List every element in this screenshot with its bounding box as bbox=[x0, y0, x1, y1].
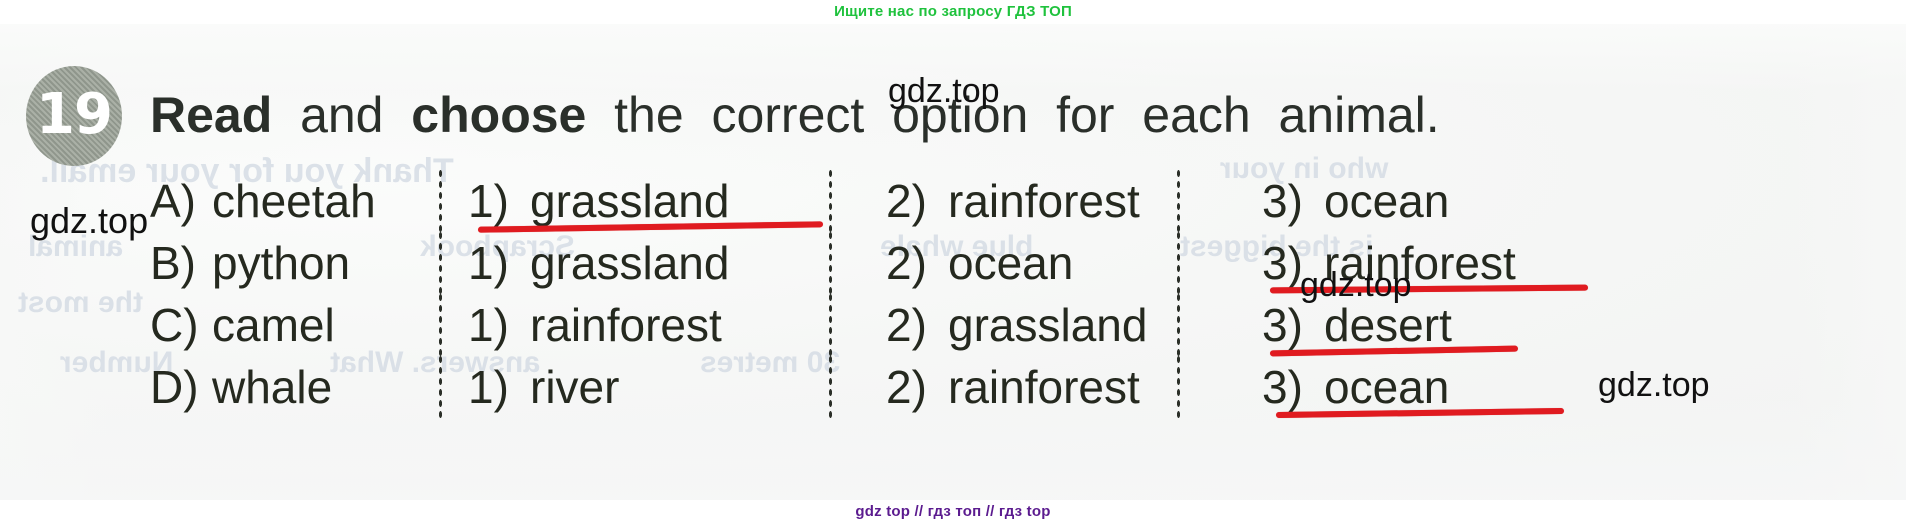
column-divider bbox=[1176, 230, 1181, 296]
option-row: A)cheetah1)grassland2)rainforest3)ocean bbox=[150, 170, 1896, 232]
option-label: ocean bbox=[1324, 174, 1449, 228]
instruction-word: correct bbox=[711, 82, 864, 148]
option-label: ocean bbox=[1324, 360, 1449, 414]
top-promo-banner: Ищите нас по запросу ГДЗ ТОП bbox=[0, 0, 1906, 24]
animal-key: B) bbox=[150, 236, 212, 290]
option-label: river bbox=[530, 360, 619, 414]
option-row: B)python1)grassland2)ocean3)rainforest bbox=[150, 232, 1896, 294]
gdz-watermark: gdz.top bbox=[1300, 266, 1412, 305]
option-label: rainforest bbox=[530, 298, 722, 352]
column-divider bbox=[438, 168, 443, 234]
animal-name: python bbox=[212, 236, 350, 290]
column-divider bbox=[1176, 292, 1181, 358]
gdz-watermark: gdz.top bbox=[888, 72, 1000, 111]
option-number: 3) bbox=[1262, 298, 1324, 352]
option-row: C)camel1)rainforest2)grassland3)desert bbox=[150, 294, 1896, 356]
option-number: 2) bbox=[886, 236, 948, 290]
option-label: grassland bbox=[948, 298, 1147, 352]
animal-key: C) bbox=[150, 298, 212, 352]
option-cell[interactable]: 3)rainforest bbox=[1234, 232, 1612, 294]
column-divider bbox=[1176, 354, 1181, 420]
animal-key: D) bbox=[150, 360, 212, 414]
instruction-word: choose bbox=[411, 82, 586, 148]
instruction-word: each bbox=[1142, 82, 1250, 148]
animal-name: camel bbox=[212, 298, 335, 352]
bleed-through-text: the most bbox=[18, 286, 143, 320]
option-cell[interactable]: 1)rainforest bbox=[438, 294, 858, 356]
option-cell[interactable]: 1)river bbox=[438, 356, 858, 418]
option-number: 1) bbox=[468, 360, 530, 414]
option-label: rainforest bbox=[948, 174, 1140, 228]
animal-name: cheetah bbox=[212, 174, 376, 228]
column-divider bbox=[828, 230, 833, 296]
exercise-number: 19 bbox=[36, 87, 112, 143]
option-cell[interactable]: 1)grassland bbox=[438, 170, 858, 232]
option-label: ocean bbox=[948, 236, 1073, 290]
instruction-word: animal. bbox=[1279, 82, 1440, 148]
column-divider bbox=[438, 292, 443, 358]
option-number: 1) bbox=[468, 298, 530, 352]
gdz-watermark: gdz.top bbox=[1598, 366, 1710, 405]
column-divider bbox=[1176, 168, 1181, 234]
option-cell[interactable]: 3)ocean bbox=[1234, 356, 1612, 418]
option-label: rainforest bbox=[948, 360, 1140, 414]
column-divider bbox=[438, 354, 443, 420]
animal-name: whale bbox=[212, 360, 332, 414]
instruction-word: and bbox=[300, 82, 383, 148]
exercise-number-badge: 19 bbox=[26, 66, 122, 166]
animal-cell: B)python bbox=[150, 232, 438, 294]
column-divider bbox=[438, 230, 443, 296]
scanned-page: Thank you for your email.animalthe mostN… bbox=[0, 24, 1906, 500]
animal-key: A) bbox=[150, 174, 212, 228]
option-number: 1) bbox=[468, 174, 530, 228]
option-number: 1) bbox=[468, 236, 530, 290]
option-number: 3) bbox=[1262, 174, 1324, 228]
option-cell[interactable]: 3)ocean bbox=[1234, 170, 1612, 232]
bottom-promo-banner: gdz top // гдз топ // гдз top bbox=[0, 500, 1906, 524]
option-label: grassland bbox=[530, 236, 729, 290]
gdz-watermark: gdz.top bbox=[30, 200, 148, 242]
column-divider bbox=[828, 168, 833, 234]
option-number: 2) bbox=[886, 298, 948, 352]
animal-cell: D)whale bbox=[150, 356, 438, 418]
option-number: 2) bbox=[886, 360, 948, 414]
option-number: 3) bbox=[1262, 360, 1324, 414]
animal-cell: A)cheetah bbox=[150, 170, 438, 232]
option-label: desert bbox=[1324, 298, 1452, 352]
animal-cell: C)camel bbox=[150, 294, 438, 356]
exercise-instruction: Read and choose the correct option for e… bbox=[150, 82, 1890, 148]
instruction-word: the bbox=[614, 82, 684, 148]
option-cell[interactable]: 3)desert bbox=[1234, 294, 1612, 356]
option-number: 2) bbox=[886, 174, 948, 228]
column-divider bbox=[828, 292, 833, 358]
option-label: grassland bbox=[530, 174, 729, 228]
column-divider bbox=[828, 354, 833, 420]
instruction-word: Read bbox=[150, 82, 272, 148]
option-cell[interactable]: 1)grassland bbox=[438, 232, 858, 294]
instruction-word: for bbox=[1056, 82, 1114, 148]
